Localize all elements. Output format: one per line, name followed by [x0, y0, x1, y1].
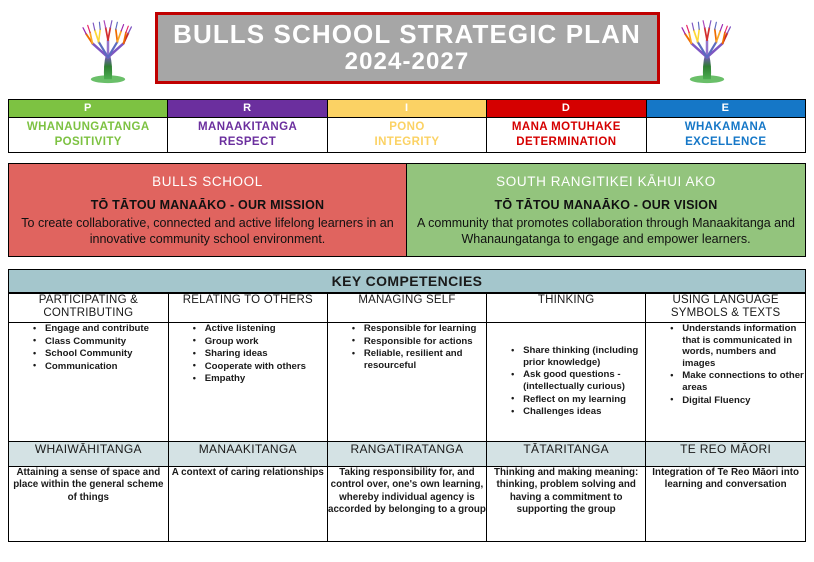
maori-description-1: A context of caring relationships: [168, 467, 327, 542]
list-item: School Community: [33, 348, 168, 360]
list-item: Share thinking (including prior knowledg…: [511, 345, 645, 368]
bullet-list-2: Responsible for learning Responsible for…: [328, 323, 486, 371]
value-letter-r: R: [168, 100, 326, 117]
competency-heading-row: PARTICIPATING & CONTRIBUTING RELATING TO…: [9, 294, 805, 323]
list-item: Reflect on my learning: [511, 394, 645, 406]
value-letter-cell-4: E: [646, 100, 805, 118]
value-letter-cell-2: I: [327, 100, 486, 118]
maori-term-4: TE REO MĀORI: [646, 442, 805, 467]
value-maori-4: WHAKAMANA: [647, 120, 805, 135]
value-letter-p: P: [9, 100, 167, 117]
list-item: Digital Fluency: [670, 395, 805, 407]
key-competencies-section: KEY COMPETENCIES PARTICIPATING & CONTRIB…: [8, 269, 806, 542]
bullet-list-1: Active listening Group work Sharing idea…: [169, 323, 327, 385]
value-letter-cell-0: P: [9, 100, 168, 118]
maori-term-0: WHAIWĀHITANGA: [9, 442, 168, 467]
value-maori-3: MANA MOTUHAKE: [487, 120, 645, 135]
value-words-cell-2: PONO INTEGRITY: [327, 118, 486, 153]
values-letter-row: P R I D E: [9, 100, 806, 118]
competency-heading-3: THINKING: [487, 294, 646, 323]
competency-heading-1: RELATING TO OTHERS: [168, 294, 327, 323]
value-english-4: EXCELLENCE: [647, 135, 805, 150]
list-item: Class Community: [33, 336, 168, 348]
list-item: Ask good questions - (intellectually cur…: [511, 369, 645, 392]
bullet-list-0: Engage and contribute Class Community Sc…: [9, 323, 168, 372]
value-english-2: INTEGRITY: [328, 135, 486, 150]
maori-description-4: Integration of Te Reo Māori into learnin…: [646, 467, 805, 542]
value-words-cell-4: WHAKAMANA EXCELLENCE: [646, 118, 805, 153]
page-title-years: 2024-2027: [345, 48, 470, 76]
value-words-cell-3: MANA MOTUHAKE DETERMINATION: [487, 118, 646, 153]
mission-text: To create collaborative, connected and a…: [19, 215, 396, 247]
mission-vision-row: BULLS SCHOOL TŌ TĀTOU MANAĀKO - OUR MISS…: [8, 163, 806, 257]
list-item: Make connections to other areas: [670, 370, 805, 393]
maori-term-row: WHAIWĀHITANGA MANAAKITANGA RANGATIRATANG…: [9, 442, 805, 467]
maori-term-1: MANAAKITANGA: [168, 442, 327, 467]
key-competencies-title: KEY COMPETENCIES: [9, 270, 805, 293]
list-item: Communication: [33, 361, 168, 373]
competency-bullets-3: Share thinking (including prior knowledg…: [487, 323, 646, 442]
key-competencies-table: PARTICIPATING & CONTRIBUTING RELATING TO…: [9, 293, 805, 542]
competency-bullets-1: Active listening Group work Sharing idea…: [168, 323, 327, 442]
list-item: Responsible for actions: [352, 336, 486, 348]
value-letter-e: E: [647, 100, 805, 117]
maori-term-3: TĀTARITANGA: [487, 442, 646, 467]
list-item: Challenges ideas: [511, 406, 645, 418]
value-words-cell-0: WHANAUNGATANGA POSITIVITY: [9, 118, 168, 153]
competency-bullets-2: Responsible for learning Responsible for…: [327, 323, 486, 442]
header-banner: BULLS SCHOOL STRATEGIC PLAN 2024-2027: [8, 0, 806, 96]
maori-description-0: Attaining a sense of space and place wit…: [9, 467, 168, 542]
list-item: Engage and contribute: [33, 323, 168, 335]
maori-term-2: RANGATIRATANGA: [327, 442, 486, 467]
maori-description-2: Taking responsibility for, and control o…: [327, 467, 486, 542]
strategic-plan-page: BULLS SCHOOL STRATEGIC PLAN 2024-2027: [0, 0, 814, 562]
list-item: Reliable, resilient and resourceful: [352, 348, 486, 371]
value-maori-1: MANAAKITANGA: [168, 120, 326, 135]
competency-bullets-4: Understands information that is communic…: [646, 323, 805, 442]
competency-heading-2: MANAGING SELF: [327, 294, 486, 323]
bullet-list-4: Understands information that is communic…: [646, 323, 805, 406]
value-english-3: DETERMINATION: [487, 135, 645, 150]
maori-description-row: Attaining a sense of space and place wit…: [9, 467, 805, 542]
mission-org-name: BULLS SCHOOL: [152, 174, 263, 189]
vision-text: A community that promotes collaboration …: [417, 215, 795, 247]
competency-bullets-row: Engage and contribute Class Community Sc…: [9, 323, 805, 442]
list-item: Responsible for learning: [352, 323, 486, 335]
list-item: Active listening: [193, 323, 327, 335]
list-item: Empathy: [193, 373, 327, 385]
page-title: BULLS SCHOOL STRATEGIC PLAN: [173, 21, 641, 48]
rainbow-tree-logo-right: [668, 9, 746, 87]
list-item: Understands information that is communic…: [670, 323, 805, 369]
list-item: Cooperate with others: [193, 361, 327, 373]
value-maori-0: WHANAUNGATANGA: [9, 120, 167, 135]
value-english-1: RESPECT: [168, 135, 326, 150]
value-letter-i: I: [328, 100, 486, 117]
bullet-list-3: Share thinking (including prior knowledg…: [487, 345, 645, 418]
competency-heading-0: PARTICIPATING & CONTRIBUTING: [9, 294, 168, 323]
competency-bullets-0: Engage and contribute Class Community Sc…: [9, 323, 168, 442]
mission-panel: BULLS SCHOOL TŌ TĀTOU MANAĀKO - OUR MISS…: [9, 164, 407, 256]
rainbow-tree-logo-left: [69, 9, 147, 87]
list-item: Group work: [193, 336, 327, 348]
vision-org-name: SOUTH RANGITIKEI KĀHUI AKO: [496, 174, 716, 189]
mission-heading: TŌ TĀTOU MANAĀKO - OUR MISSION: [91, 198, 325, 212]
value-letter-d: D: [487, 100, 645, 117]
competency-heading-4: USING LANGUAGE SYMBOLS & TEXTS: [646, 294, 805, 323]
value-english-0: POSITIVITY: [9, 135, 167, 150]
maori-description-3: Thinking and making meaning: thinking, p…: [487, 467, 646, 542]
value-letter-cell-1: R: [168, 100, 327, 118]
list-item: Sharing ideas: [193, 348, 327, 360]
values-words-row: WHANAUNGATANGA POSITIVITY MANAAKITANGA R…: [9, 118, 806, 153]
value-letter-cell-3: D: [487, 100, 646, 118]
pride-values-table: P R I D E WHANAUNGATANGA POSITIVITY MANA…: [8, 99, 806, 153]
title-box: BULLS SCHOOL STRATEGIC PLAN 2024-2027: [155, 12, 660, 84]
value-maori-2: PONO: [328, 120, 486, 135]
value-words-cell-1: MANAAKITANGA RESPECT: [168, 118, 327, 153]
vision-panel: SOUTH RANGITIKEI KĀHUI AKO TŌ TĀTOU MANA…: [407, 164, 805, 256]
vision-heading: TŌ TĀTOU MANAĀKO - OUR VISION: [495, 198, 718, 212]
